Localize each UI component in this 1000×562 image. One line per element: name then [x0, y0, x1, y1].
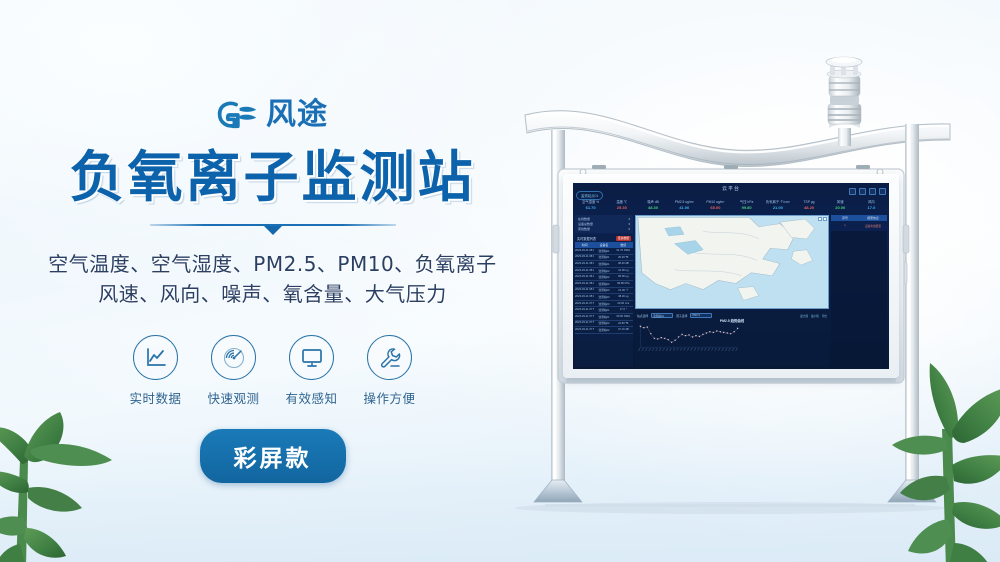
table-cell: 2023-03-11 08:00	[575, 294, 594, 300]
sensor-list-line2: 风速、风向、噪声、氧含量、大气压力	[48, 279, 496, 309]
table-cell: 2023-03-11 08:05	[575, 261, 594, 267]
stat-card: PM10 ug/m³65.00	[700, 200, 731, 211]
alarm-row: 1设备离线报警	[831, 223, 887, 229]
product-variant-badge[interactable]: 彩屏款	[200, 429, 346, 483]
table-cell: 监测站03	[594, 294, 613, 300]
svg-text:02:00: 02:00	[728, 348, 731, 352]
stat-value: 41.00	[669, 205, 700, 211]
svg-text:09:00: 09:00	[669, 348, 672, 352]
svg-text:17:00: 17:00	[697, 348, 700, 352]
table-cell: 2023-03-11 07:58	[575, 307, 594, 313]
svg-text:18:00: 18:00	[700, 348, 703, 352]
table-cell: 20.00 m/s	[614, 301, 633, 307]
stat-card: 风向17.0	[856, 200, 887, 211]
svg-text:22:00: 22:00	[714, 348, 717, 352]
table-cell: 65.00 ug	[614, 274, 633, 280]
table-caption: 实时数据列表	[577, 236, 596, 241]
svg-text:00:00: 00:00	[638, 348, 641, 352]
station-select-label: 站点选择	[637, 314, 648, 318]
table-cell: 监测站01	[594, 255, 613, 261]
table-cell: 监测站02	[594, 327, 613, 333]
stat-value: 25.30	[606, 205, 637, 211]
svg-text:08:00: 08:00	[666, 348, 669, 352]
feature-icon-circle	[211, 335, 256, 380]
stat-card: 负氧离子 个/cm³21.00	[762, 200, 793, 211]
stat-card: 温度 ℃25.30	[606, 200, 637, 211]
stat-value: 61.70	[575, 205, 606, 211]
chart-plot: 00:0001:0002:0003:0004:0005:0006:0007:00…	[637, 322, 739, 356]
table-cell: 60.50 %RH	[614, 314, 633, 320]
feature-list: 实时数据 快速观测	[128, 335, 418, 407]
table-cell: 61.70 %RH	[614, 248, 633, 254]
device-summary-row: 在线数量3	[578, 217, 630, 221]
table-cell: 48.20 ug	[614, 294, 633, 300]
alarm-column-header: 序号	[831, 215, 859, 221]
table-cell: 监测站02	[594, 274, 613, 280]
feature-label: 快速观测	[207, 388, 259, 407]
svg-text:19:00: 19:00	[704, 348, 707, 352]
line-chart-icon	[144, 347, 168, 369]
brand-logo: 风途	[217, 96, 328, 134]
svg-text:14:00: 14:00	[687, 348, 690, 352]
table-row[interactable]: 2023-03-11 08:02监测站0299.80 hPa	[575, 281, 633, 288]
table-row[interactable]: 2023-03-11 07:58监测站0117.0 °	[575, 307, 633, 314]
stat-value: 21.00	[762, 205, 793, 211]
svg-text:13:00: 13:00	[683, 348, 686, 352]
svg-text:23:00: 23:00	[718, 348, 721, 352]
svg-text:05:00: 05:00	[655, 348, 658, 352]
center-panel: 站点选择 监测站01 因子选择 PM2.5 最大值 最小值 导出 PM2.5 趋…	[635, 215, 829, 367]
legend-min: 最小值	[811, 314, 819, 318]
svg-text:10:00: 10:00	[673, 348, 676, 352]
feature-item-realtime-data[interactable]: 实时数据	[128, 335, 184, 407]
feature-item-effective-sensing[interactable]: 有效感知	[284, 335, 340, 407]
svg-text:01:00: 01:00	[725, 348, 728, 352]
stat-card: 噪声 dB48.30	[637, 200, 668, 211]
table-cell: 2023-03-11 08:07	[575, 248, 594, 254]
table-row[interactable]: 2023-03-11 08:00监测站0348.20 ug	[575, 294, 633, 301]
table-cell: 2023-03-11 07:55	[575, 327, 594, 333]
wrench-icon	[378, 346, 402, 370]
stat-card: 空气湿度 %61.70	[575, 200, 606, 211]
table-row[interactable]: 2023-03-11 08:03监测站0265.00 ug	[575, 274, 633, 281]
dashboard-title: 云平台	[573, 185, 889, 192]
device-summary-row: 设备总数量3	[578, 222, 630, 226]
svg-text:07:00: 07:00	[662, 348, 665, 352]
table-cell: 监测站02	[594, 268, 613, 274]
table-row[interactable]: 2023-03-11 07:56监测站0224.80 ℃	[575, 321, 633, 328]
toolbar-icon[interactable]	[879, 188, 886, 195]
feature-label: 实时数据	[129, 388, 181, 407]
legend-max: 最大值	[800, 314, 808, 318]
svg-text:16:00: 16:00	[694, 348, 697, 352]
dashboard-toolbar[interactable]	[849, 188, 886, 195]
table-row[interactable]: 2023-03-11 08:07监测站0161.70 %RH	[575, 248, 633, 255]
table-cell: 监测站03	[594, 288, 613, 294]
svg-text:21:00: 21:00	[711, 348, 714, 352]
title-divider	[150, 221, 396, 235]
factor-select-label: 因子选择	[676, 314, 687, 318]
feature-label: 有效感知	[285, 388, 337, 407]
toolbar-icon[interactable]	[849, 188, 856, 195]
table-row[interactable]: 2023-03-11 08:01监测站0321.00 个	[575, 288, 633, 295]
table-cell: 2023-03-11 07:57	[575, 314, 594, 320]
svg-text:02:00: 02:00	[645, 348, 648, 352]
feature-label: 操作方便	[363, 388, 415, 407]
sensor-list: 空气温度、空气湿度、PM2.5、PM10、负氧离子 风速、风向、噪声、氧含量、大…	[48, 249, 496, 309]
alarm-cell: 设备离线报警	[859, 223, 887, 229]
table-cell: 99.80 hPa	[614, 281, 633, 287]
hero-content: 风途 负氧离子监测站 空气温度、空气湿度、PM2.5、PM10、负氧离子 风速、…	[0, 0, 545, 562]
table-row[interactable]: 2023-03-11 08:04监测站0241.00 ug	[575, 268, 633, 275]
stats-row: 空气湿度 %61.70温度 ℃25.30噪声 dB48.30PM2.5 ug/m…	[575, 200, 887, 211]
alarm-cell: 1	[831, 223, 859, 229]
svg-text:04:00: 04:00	[652, 348, 655, 352]
table-cell: 监测站01	[594, 307, 613, 313]
trend-chart: 站点选择 监测站01 因子选择 PM2.5 最大值 最小值 导出 PM2.5 趋…	[635, 311, 829, 367]
svg-text:04:00: 04:00	[735, 348, 738, 352]
table-body: 2023-03-11 08:07监测站0161.70 %RH2023-03-11…	[575, 248, 633, 334]
svg-text:15:00: 15:00	[690, 348, 693, 352]
svg-text:12:00: 12:00	[680, 348, 683, 352]
table-cell: 监测站02	[594, 281, 613, 287]
alarm-header: 序号报警信息	[831, 215, 887, 221]
radar-scan-icon	[222, 346, 246, 370]
feature-item-fast-observation[interactable]: 快速观测	[206, 335, 262, 407]
table-row[interactable]: 2023-03-11 07:57监测站0160.50 %RH	[575, 314, 633, 321]
stat-value: 48.20	[793, 205, 824, 211]
alarm-column-header: 报警信息	[859, 215, 887, 221]
table-cell: 48.30 dB	[614, 261, 633, 267]
stat-value: 99.80	[731, 205, 762, 211]
alarm-body: 1设备离线报警	[831, 223, 887, 229]
table-cell: 2023-03-11 07:56	[575, 321, 594, 327]
device-summary: 在线数量3设备总数量3离线数量0	[575, 215, 633, 233]
table-cell: 监测站01	[594, 248, 613, 254]
svg-text:03:00: 03:00	[732, 348, 735, 352]
wind-leaf-g-icon	[217, 100, 257, 130]
table-cell: 25.30 ℃	[614, 255, 633, 261]
sensor-list-line1: 空气温度、空气湿度、PM2.5、PM10、负氧离子	[48, 249, 496, 279]
svg-text:01:00: 01:00	[641, 348, 644, 352]
table-cell: 2023-03-11 08:03	[575, 274, 594, 280]
table-cell: 监测站03	[594, 301, 613, 307]
svg-text:06:00: 06:00	[659, 348, 662, 352]
table-cell: 2023-03-11 08:02	[575, 281, 594, 287]
left-panel: 在线数量3设备总数量3离线数量0 实时数据列表 更多数据 时间设备名数值 202…	[575, 215, 633, 367]
table-row[interactable]: 2023-03-11 07:59监测站0320.00 m/s	[575, 301, 633, 308]
table-cell: 监测站01	[594, 261, 613, 267]
stat-value: 20.00	[825, 205, 856, 211]
zoom-out-icon[interactable]	[823, 217, 827, 221]
monitor-icon	[300, 347, 324, 369]
stat-value: 65.00	[700, 205, 731, 211]
svg-text:00:00: 00:00	[721, 348, 724, 352]
table-cell: 2023-03-11 08:06	[575, 255, 594, 261]
feature-icon-circle	[289, 335, 334, 380]
svg-text:03:00: 03:00	[648, 348, 651, 352]
realtime-table[interactable]: 实时数据列表 更多数据 时间设备名数值 2023-03-11 08:07监测站0…	[575, 235, 633, 367]
table-cell: 监测站02	[594, 321, 613, 327]
table-cell: 24.80 ℃	[614, 321, 633, 327]
feature-item-easy-operation[interactable]: 操作方便	[362, 335, 418, 407]
table-row[interactable]: 2023-03-11 08:06监测站0125.30 ℃	[575, 255, 633, 262]
table-row[interactable]: 2023-03-11 08:05监测站0148.30 dB	[575, 261, 633, 268]
table-cell: 2023-03-11 08:01	[575, 288, 594, 294]
feature-icon-circle	[367, 335, 412, 380]
stat-card: TSP µg48.20	[793, 200, 824, 211]
table-cell: 2023-03-11 08:04	[575, 268, 594, 274]
divider-triangle-icon	[264, 226, 282, 235]
table-row[interactable]: 2023-03-11 07:55监测站0247.10 dB	[575, 327, 633, 334]
svg-text:11:00: 11:00	[676, 348, 679, 352]
dashboard: 云平台 监测站点01 空气湿度 %61.70温度 ℃25.30噪声 dB48.3…	[573, 183, 889, 369]
zoom-in-icon[interactable]	[818, 217, 822, 221]
map-widget[interactable]	[635, 215, 829, 309]
page-title: 负氧离子监测站	[69, 148, 475, 207]
display-screen[interactable]: 云平台 监测站点01 空气湿度 %61.70温度 ℃25.30噪声 dB48.3…	[563, 174, 899, 378]
stat-value: 48.30	[637, 205, 668, 211]
table-cell: 41.00 ug	[614, 268, 633, 274]
table-cell: 47.10 dB	[614, 327, 633, 333]
stat-card: PM2.5 ug/m³41.00	[669, 200, 700, 211]
table-cell: 21.00 个	[614, 288, 633, 294]
table-cell: 2023-03-11 07:59	[575, 301, 594, 307]
svg-text:20:00: 20:00	[707, 348, 710, 352]
toolbar-icon[interactable]	[859, 188, 866, 195]
feature-icon-circle	[133, 335, 178, 380]
map-zoom-controls[interactable]	[818, 217, 827, 221]
table-cell: 监测站01	[594, 314, 613, 320]
export-button[interactable]: 导出	[822, 314, 827, 318]
toolbar-icon[interactable]	[869, 188, 876, 195]
stat-card: 气压 hPa99.80	[731, 200, 762, 211]
stat-card: 风速20.00	[825, 200, 856, 211]
device-summary-row: 离线数量0	[578, 227, 630, 231]
stat-value: 17.0	[856, 205, 887, 211]
dashboard-station-tag[interactable]: 监测站点01	[576, 191, 603, 200]
table-cell: 17.0 °	[614, 307, 633, 313]
more-data-button[interactable]: 更多数据	[616, 236, 631, 241]
right-panel: 序号报警信息 1设备离线报警	[831, 215, 887, 367]
map-graphic	[636, 216, 828, 308]
brand-name: 风途	[266, 100, 328, 130]
